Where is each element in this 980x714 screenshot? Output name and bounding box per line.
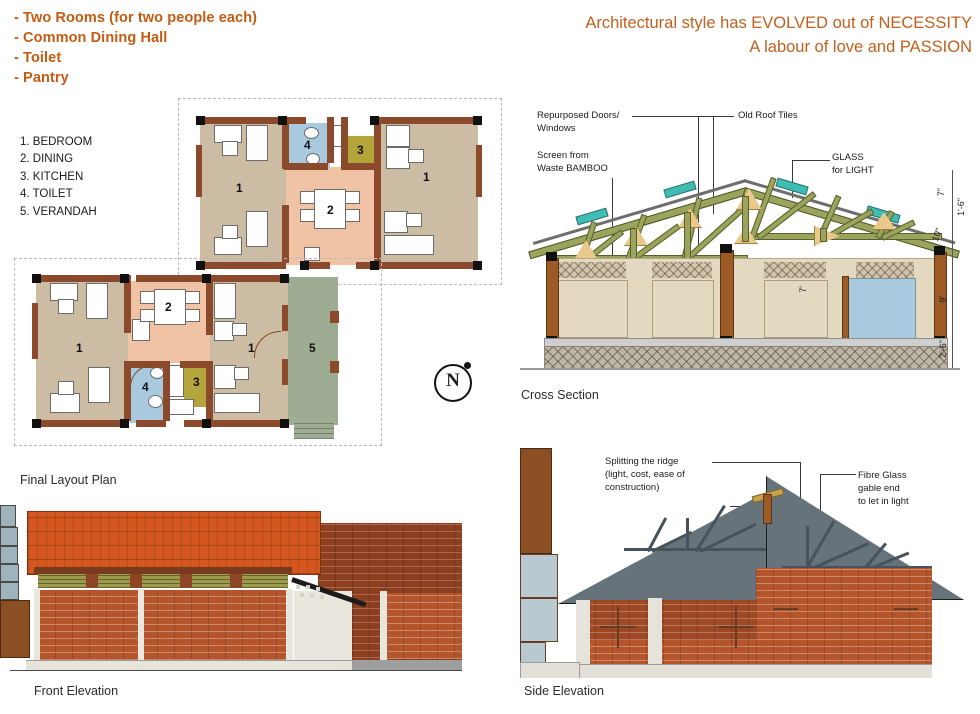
furniture bbox=[386, 125, 410, 147]
annotation-bamboo-screen: Screen from Waste BAMBOO bbox=[537, 150, 647, 176]
north-dot bbox=[464, 362, 471, 369]
entry-porch-wall bbox=[294, 591, 352, 661]
verandah-step bbox=[294, 423, 334, 439]
furniture bbox=[58, 299, 74, 314]
jaali-dot bbox=[296, 585, 300, 589]
bamboo-screen-panel bbox=[652, 262, 712, 278]
headline-line-1: Architectural style has EVOLVED out of N… bbox=[492, 12, 972, 36]
leader-line bbox=[698, 116, 699, 252]
final-layout-plan-caption: Final Layout Plan bbox=[20, 473, 117, 487]
room-bedroom-left bbox=[200, 123, 286, 265]
side-brick-wall-right bbox=[756, 568, 932, 678]
room-number: 2 bbox=[165, 300, 172, 314]
headline-line-2: A labour of love and PASSION bbox=[492, 36, 972, 60]
furniture bbox=[214, 393, 260, 413]
wall-pilaster bbox=[380, 591, 387, 661]
glazed-opening bbox=[848, 278, 916, 340]
door-jamb bbox=[842, 276, 849, 340]
exterior-wall bbox=[374, 117, 482, 124]
furniture bbox=[214, 321, 234, 341]
north-label: N bbox=[436, 370, 470, 392]
structural-pier bbox=[120, 274, 129, 283]
front-elevation-drawing bbox=[0, 505, 462, 675]
furniture bbox=[132, 319, 150, 341]
ridge-post bbox=[742, 196, 749, 242]
structural-pier bbox=[280, 419, 289, 428]
structural-pier bbox=[278, 116, 287, 125]
exterior-wall bbox=[476, 145, 482, 197]
furniture bbox=[408, 149, 424, 163]
window-mullion bbox=[718, 626, 754, 628]
cross-section-caption: Cross Section bbox=[521, 388, 599, 402]
lower-floor-plan: 1 2 4 3 1 5 bbox=[32, 275, 362, 427]
structural-pier bbox=[473, 116, 482, 125]
furniture bbox=[58, 381, 74, 395]
bamboo-screen-panel bbox=[556, 262, 626, 278]
room-number: 1 bbox=[248, 341, 255, 355]
exterior-wall bbox=[32, 275, 128, 282]
partition-wall bbox=[124, 275, 131, 333]
window bbox=[0, 546, 18, 564]
bamboo-screen-panel bbox=[764, 262, 826, 278]
dining-chair bbox=[345, 191, 360, 204]
furniture bbox=[406, 213, 422, 227]
room-number: 4 bbox=[142, 380, 149, 394]
side-elevation-caption: Side Elevation bbox=[524, 684, 604, 698]
leader-line bbox=[712, 462, 800, 463]
annotation-glass-for-light: GLASS for LIGHT bbox=[832, 152, 902, 178]
north-circle: N bbox=[434, 364, 472, 402]
gable-truss-member bbox=[806, 526, 809, 568]
furniture bbox=[88, 367, 110, 403]
side-elevation-drawing: Splitting the ridge (light, cost, ease o… bbox=[520, 448, 980, 678]
window-paned bbox=[520, 598, 558, 642]
repurposed-door-panel bbox=[764, 280, 828, 338]
ground-line bbox=[520, 368, 960, 370]
screen-mullion bbox=[130, 573, 142, 588]
king-post bbox=[630, 228, 637, 260]
ground-line bbox=[10, 670, 462, 671]
partition-wall bbox=[206, 275, 213, 335]
plinth-foundation bbox=[544, 346, 948, 370]
north-arrow: N bbox=[434, 360, 478, 400]
partition-wall bbox=[206, 361, 213, 421]
window bbox=[0, 505, 16, 527]
legend-item-dining: 2. DINING bbox=[20, 151, 97, 168]
dimension-9ft: 9' bbox=[938, 296, 948, 303]
bamboo-screen-panel bbox=[856, 262, 914, 278]
furniture bbox=[214, 237, 242, 255]
requirement-item: - Toilet bbox=[14, 48, 434, 68]
room-number: 1 bbox=[76, 341, 83, 355]
room-number: 4 bbox=[304, 138, 311, 152]
partition-wall bbox=[341, 117, 348, 169]
dining-chair bbox=[300, 209, 315, 222]
headline: Architectural style has EVOLVED out of N… bbox=[492, 12, 972, 60]
exterior-wall bbox=[136, 420, 166, 427]
screen-mullion bbox=[180, 573, 192, 588]
cross-section-drawing: Repurposed Doors/ Windows Screen from Wa… bbox=[520, 100, 980, 385]
wall-pilaster bbox=[138, 589, 144, 661]
partition-wall bbox=[374, 117, 381, 263]
requirement-item: - Pantry bbox=[14, 68, 434, 88]
leader-line bbox=[632, 116, 698, 117]
jaali-dot bbox=[300, 593, 304, 597]
ridge-post bbox=[763, 494, 772, 524]
entry-door bbox=[0, 600, 30, 658]
repurposed-door-panel bbox=[556, 280, 628, 338]
partition-wall bbox=[163, 361, 170, 421]
window-mullion bbox=[774, 608, 798, 610]
dimension-2ft-6in: 2'-6" bbox=[938, 340, 948, 358]
furniture bbox=[232, 323, 247, 336]
bamboo-screen-band bbox=[38, 573, 288, 588]
window bbox=[0, 582, 19, 600]
partition-wall bbox=[327, 117, 334, 163]
truss-bottom-chord bbox=[744, 233, 942, 240]
room-number: 1 bbox=[423, 170, 430, 184]
annotation-old-roof-tiles: Old Roof Tiles bbox=[738, 110, 798, 123]
dining-chair bbox=[140, 291, 155, 304]
verandah-rail bbox=[330, 311, 339, 323]
gable-truss-member bbox=[686, 518, 689, 550]
dimension-7in: 7" bbox=[936, 188, 946, 196]
jaali-dot bbox=[320, 595, 324, 599]
upper-floor-plan: 1 4 3 1 2 bbox=[196, 117, 482, 269]
room-number: 1 bbox=[236, 181, 243, 195]
legend-item-toilet: 4. TOILET bbox=[20, 186, 97, 203]
dining-chair bbox=[300, 191, 315, 204]
timber-column bbox=[546, 258, 559, 344]
furniture bbox=[384, 235, 434, 255]
dining-chair bbox=[140, 309, 155, 322]
wc-fixture bbox=[148, 395, 163, 408]
leader-line bbox=[820, 474, 856, 475]
room-number: 2 bbox=[327, 203, 334, 217]
structural-pier bbox=[32, 274, 41, 283]
legend-item-kitchen: 3. KITCHEN bbox=[20, 169, 97, 186]
jaali-dot bbox=[310, 593, 314, 597]
exterior-wall bbox=[196, 145, 202, 197]
jaali-dot bbox=[316, 587, 320, 591]
jaali-dot bbox=[306, 585, 310, 589]
column-cap bbox=[546, 252, 557, 261]
structural-pier bbox=[202, 419, 211, 428]
annotation-splitting-ridge: Splitting the ridge (light, cost, ease o… bbox=[605, 456, 727, 494]
structural-pier bbox=[473, 261, 482, 270]
window-mullion bbox=[600, 626, 636, 628]
dining-chair bbox=[185, 291, 200, 304]
room-number: 3 bbox=[357, 143, 364, 157]
column-cap bbox=[934, 246, 945, 255]
annotation-repurposed-doors: Repurposed Doors/ Windows bbox=[537, 110, 647, 136]
dimension-7ft-interior: 7' bbox=[798, 286, 808, 293]
annotation-fibre-glass-gable: Fibre Glass gable end to let in light bbox=[858, 470, 958, 508]
exterior-wall bbox=[184, 420, 288, 427]
dining-chair bbox=[345, 209, 360, 222]
furniture bbox=[222, 141, 238, 156]
entry-door bbox=[520, 448, 552, 554]
partition-wall bbox=[341, 163, 375, 170]
structural-pier bbox=[202, 274, 211, 283]
dining-chair bbox=[185, 309, 200, 322]
structural-pier bbox=[120, 419, 129, 428]
side-wall-low bbox=[520, 662, 580, 678]
exterior-wall bbox=[32, 303, 38, 359]
partition-wall bbox=[180, 361, 208, 368]
legend-item-verandah: 5. VERANDAH bbox=[20, 204, 97, 221]
partition-wall bbox=[282, 305, 288, 331]
wall-pilaster bbox=[286, 589, 293, 661]
furniture bbox=[86, 283, 108, 319]
exterior-wall bbox=[288, 117, 306, 124]
furniture bbox=[386, 147, 410, 169]
column-cap bbox=[720, 244, 732, 253]
furniture bbox=[246, 211, 268, 247]
room-legend: 1. BEDROOM 2. DINING 3. KITCHEN 4. TOILE… bbox=[20, 134, 97, 221]
front-elevation-caption: Front Elevation bbox=[34, 684, 118, 698]
wall-shadow-band bbox=[578, 600, 756, 640]
leader-line bbox=[698, 116, 734, 117]
furniture bbox=[50, 393, 80, 413]
front-brick-wall bbox=[38, 590, 290, 660]
requirement-item: - Two Rooms (for two people each) bbox=[14, 8, 434, 28]
furniture bbox=[214, 283, 236, 319]
king-post bbox=[820, 228, 827, 242]
timber-column bbox=[720, 250, 734, 344]
structural-pier bbox=[32, 419, 41, 428]
partition-wall bbox=[282, 205, 289, 263]
partition-wall bbox=[124, 361, 131, 421]
right-wing-wall bbox=[386, 593, 462, 659]
structural-pier bbox=[370, 116, 379, 125]
furniture bbox=[234, 367, 249, 380]
furniture bbox=[384, 211, 408, 233]
leader-line bbox=[792, 160, 830, 161]
screen-mullion bbox=[86, 573, 98, 588]
furniture bbox=[246, 125, 268, 161]
wall-pilaster bbox=[34, 589, 40, 661]
partition-wall bbox=[284, 163, 328, 170]
exterior-wall bbox=[32, 420, 128, 427]
tile-roof bbox=[27, 511, 321, 575]
exterior-wall bbox=[196, 117, 280, 124]
plinth-band bbox=[352, 660, 462, 670]
room-number: 5 bbox=[309, 341, 316, 355]
window bbox=[0, 527, 18, 546]
room-number: 3 bbox=[193, 375, 200, 389]
screen-mullion bbox=[230, 573, 242, 588]
window-paned bbox=[520, 554, 558, 598]
partition-wall bbox=[282, 359, 288, 385]
repurposed-door-panel bbox=[652, 280, 714, 338]
king-post bbox=[684, 212, 691, 260]
structural-pier bbox=[196, 116, 205, 125]
requirement-item: - Common Dining Hall bbox=[14, 28, 434, 48]
fascia-band bbox=[34, 567, 292, 574]
window-mullion bbox=[894, 608, 918, 610]
furniture bbox=[222, 225, 238, 239]
legend-item-bedroom: 1. BEDROOM bbox=[20, 134, 97, 151]
structural-pier bbox=[280, 274, 289, 283]
dimension-1ft-6in: 1'-6" bbox=[956, 198, 966, 216]
verandah-rail bbox=[330, 361, 339, 373]
pantry-unit bbox=[166, 399, 194, 415]
dimension-line bbox=[952, 170, 953, 368]
furniture bbox=[214, 365, 236, 389]
plinth-band bbox=[576, 664, 932, 678]
window bbox=[0, 564, 19, 582]
requirements-list: - Two Rooms (for two people each) - Comm… bbox=[14, 8, 434, 88]
